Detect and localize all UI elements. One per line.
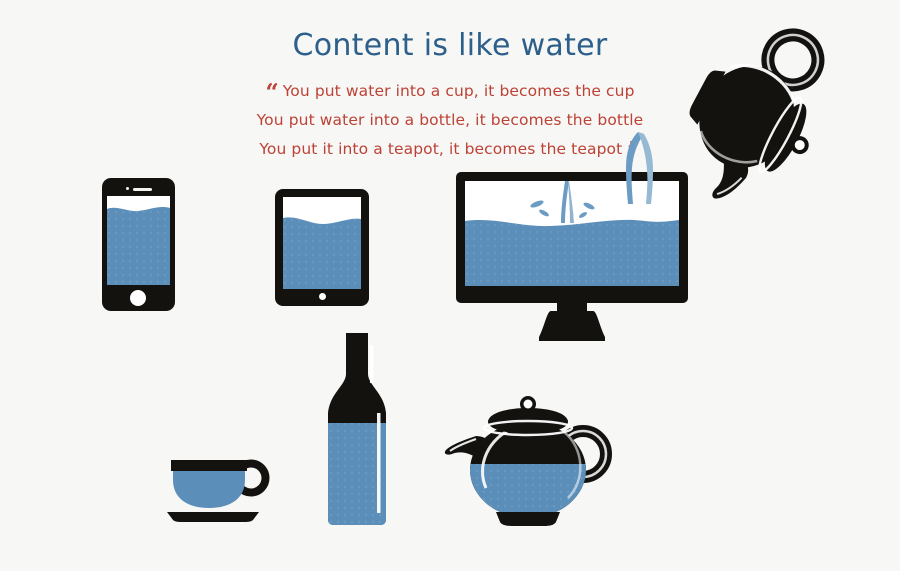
teacup-drawing — [165, 456, 275, 523]
teacup-icon — [165, 456, 275, 523]
phone-screen — [107, 196, 170, 285]
quote-open-mark: “ — [265, 79, 278, 106]
tablet-screen — [283, 197, 361, 289]
teapot-drawing — [440, 392, 610, 528]
monitor-stand — [539, 311, 605, 341]
tablet-water — [283, 197, 361, 289]
smartphone-icon — [102, 178, 175, 311]
water-stream-icon — [600, 130, 710, 250]
bottle-neck-highlight — [370, 345, 374, 383]
monitor-stream-group — [530, 181, 596, 223]
quote-line-2-text: You put water into a bottle, it becomes … — [257, 111, 644, 129]
phone-water — [107, 196, 170, 285]
bottle-water — [322, 423, 392, 527]
bottle-drawing — [322, 331, 392, 527]
cup-saucer — [167, 512, 259, 522]
quote-line-3-text: You put it into a teapot, it becomes the… — [259, 140, 622, 158]
phone-home-button[interactable] — [130, 290, 146, 306]
cup-rim — [171, 460, 247, 471]
tablet-icon — [275, 189, 369, 306]
phone-camera-icon — [126, 187, 129, 190]
water-stream-drawing — [600, 130, 710, 250]
teapot-base — [496, 512, 560, 526]
phone-speaker-icon — [133, 188, 152, 191]
bottle-icon — [322, 331, 392, 527]
tablet-home-button[interactable] — [319, 293, 326, 300]
teapot-icon — [440, 392, 610, 528]
quote-line-1-text: You put water into a cup, it becomes the… — [283, 82, 635, 100]
poster-canvas: Content is like water “You put water int… — [0, 0, 900, 571]
bottle-body-highlight — [377, 413, 381, 513]
